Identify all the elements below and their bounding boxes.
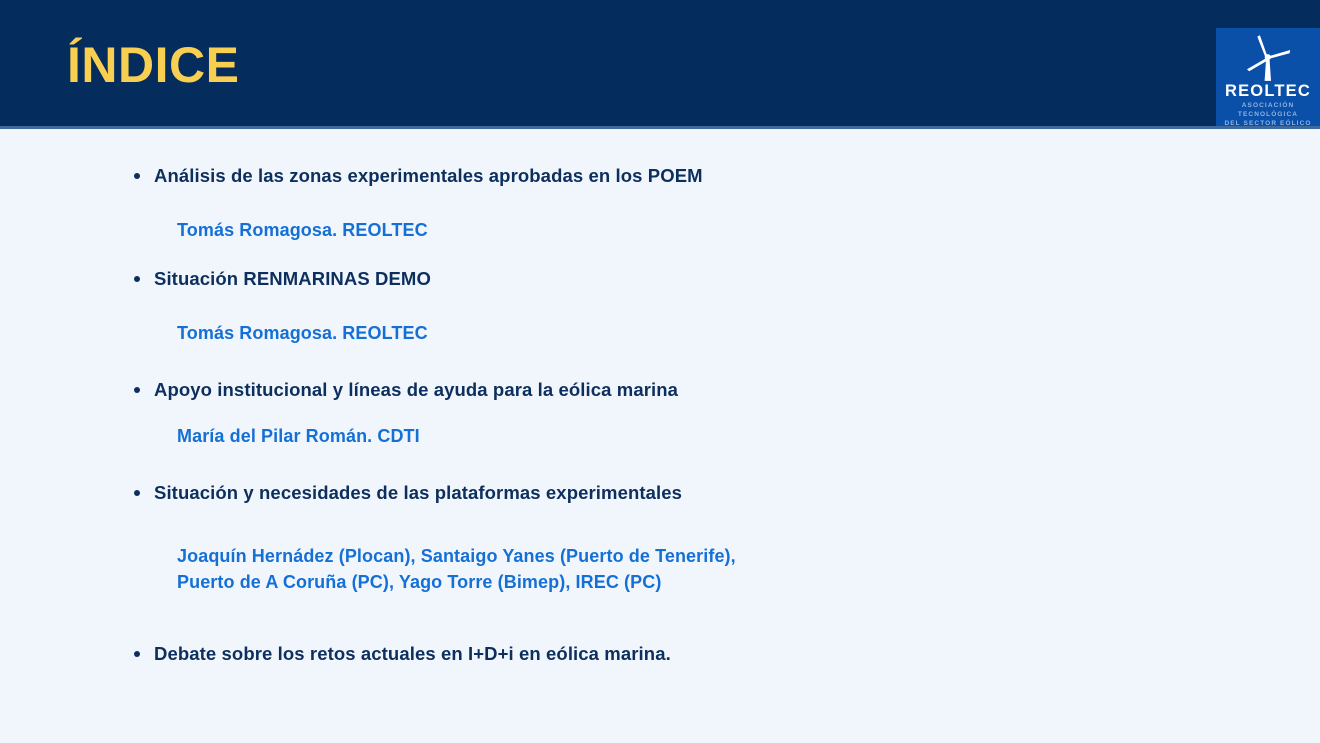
agenda-item-speaker-line: Tomás Romagosa. REOLTEC (177, 217, 703, 243)
bullet-icon (134, 387, 140, 393)
agenda-item-topic: Análisis de las zonas experimentales apr… (132, 164, 703, 188)
page-title: ÍNDICE (67, 36, 239, 94)
agenda-item-topic-label: Apoyo institucional y líneas de ayuda pa… (154, 379, 678, 400)
agenda-item-speaker-line: María del Pilar Román. CDTI (177, 423, 678, 449)
bullet-icon (134, 490, 140, 496)
logo-tagline-line-1: ASOCIACIÓN (1216, 101, 1320, 110)
agenda-item-topic-label: Situación y necesidades de las plataform… (154, 482, 682, 503)
agenda-item: Situación RENMARINAS DEMO Tomás Romagosa… (132, 267, 431, 346)
agenda-list: Análisis de las zonas experimentales apr… (0, 126, 1320, 743)
agenda-item: Situación y necesidades de las plataform… (132, 481, 736, 595)
reoltec-logo: REOLTEC ASOCIACIÓN TECNOLÓGICA DEL SECTO… (1216, 28, 1320, 126)
agenda-item: Análisis de las zonas experimentales apr… (132, 164, 703, 243)
agenda-item-topic-label: Debate sobre los retos actuales en I+D+i… (154, 643, 671, 664)
agenda-item: Debate sobre los retos actuales en I+D+i… (132, 642, 671, 666)
agenda-item-speaker-line: Joaquín Hernádez (Plocan), Santaigo Yane… (177, 543, 736, 569)
logo-wordmark: REOLTEC (1216, 82, 1320, 100)
agenda-item-speaker-line: Tomás Romagosa. REOLTEC (177, 320, 431, 346)
agenda-item-topic: Debate sobre los retos actuales en I+D+i… (132, 642, 671, 666)
agenda-item-speaker-line: Puerto de A Coruña (PC), Yago Torre (Bim… (177, 569, 736, 595)
agenda-item-topic: Situación y necesidades de las plataform… (132, 481, 736, 505)
agenda-item-topic: Situación RENMARINAS DEMO (132, 267, 431, 291)
bullet-icon (134, 276, 140, 282)
wind-turbine-icon (1216, 32, 1320, 84)
logo-tagline-line-3: DEL SECTOR EÓLICO (1216, 119, 1320, 126)
agenda-item-topic: Apoyo institucional y líneas de ayuda pa… (132, 378, 678, 402)
logo-tagline: ASOCIACIÓN TECNOLÓGICA DEL SECTOR EÓLICO (1216, 101, 1320, 126)
agenda-item-speaker: María del Pilar Román. CDTI (177, 423, 678, 449)
agenda-item-topic-label: Análisis de las zonas experimentales apr… (154, 165, 703, 186)
agenda-item-speaker: Joaquín Hernádez (Plocan), Santaigo Yane… (177, 543, 736, 595)
agenda-item-speaker: Tomás Romagosa. REOLTEC (177, 217, 703, 243)
agenda-item-topic-label: Situación RENMARINAS DEMO (154, 268, 431, 289)
agenda-item: Apoyo institucional y líneas de ayuda pa… (132, 378, 678, 449)
bullet-icon (134, 173, 140, 179)
bullet-icon (134, 651, 140, 657)
logo-tagline-line-2: TECNOLÓGICA (1216, 110, 1320, 119)
agenda-item-speaker: Tomás Romagosa. REOLTEC (177, 320, 431, 346)
presentation-slide: ÍNDICE REOLTEC ASOCIACIÓN (0, 0, 1320, 743)
